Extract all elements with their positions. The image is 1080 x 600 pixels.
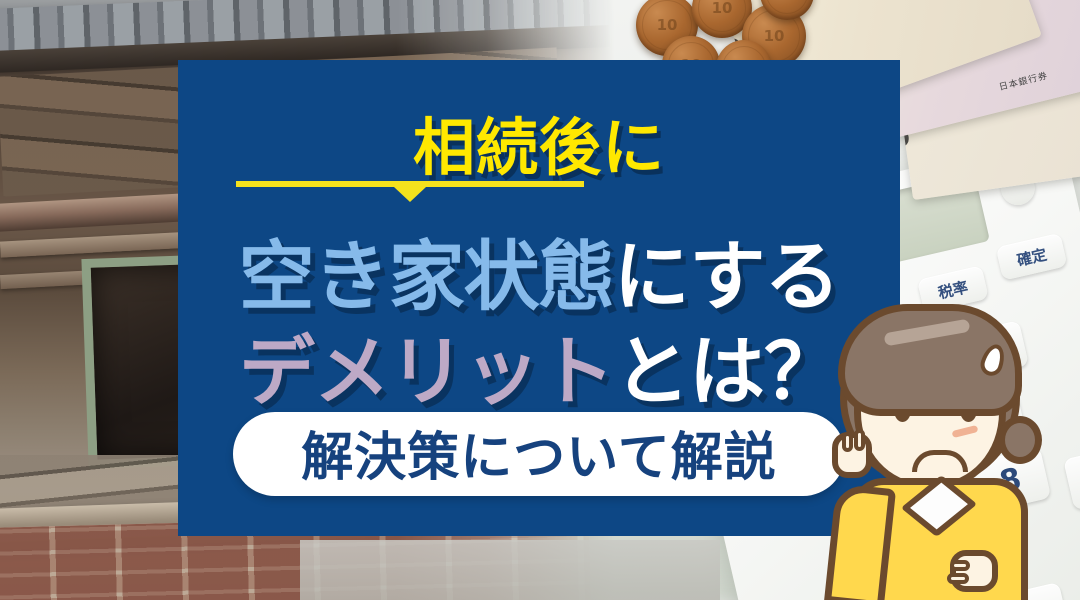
character-finger: [950, 560, 970, 571]
banner-image: 税率 確定 % − 8 5 4 1 1000 5000 五千 BS0689 日本…: [0, 0, 1080, 600]
headline-line-2-rest: にする: [614, 232, 840, 321]
headline-line-3: デメリットとは？: [178, 310, 900, 420]
character-hand-left: [832, 432, 872, 478]
headline-line-1: 相続後に: [178, 97, 900, 187]
character-finger: [842, 432, 853, 452]
worried-woman-character: [812, 300, 1062, 600]
headline-line-2-highlight: 空き家状態: [239, 232, 614, 321]
character-arm-left: [824, 483, 896, 600]
headline-line-3-highlight: デメリット: [239, 327, 614, 416]
calculator-key-5: 5: [1063, 444, 1080, 511]
subtitle-pill-label: 解決策について解説: [301, 415, 776, 490]
title-panel: 相続後に 空き家状態にする デメリットとは？ 解決策について解説: [178, 60, 900, 536]
character-hand-right: [950, 550, 998, 592]
headline-line-3-rest: とは？: [614, 327, 839, 416]
calculator-key-confirm: 確定: [996, 233, 1068, 281]
character-finger: [854, 429, 865, 451]
character-hair-bun: [998, 416, 1042, 464]
character-finger: [947, 573, 969, 584]
ground-pavement: [300, 540, 720, 600]
subtitle-pill: 解決策について解説: [233, 412, 845, 496]
headline-line-2: 空き家状態にする: [178, 215, 900, 325]
yellow-divider-with-down-arrow: [236, 181, 584, 187]
